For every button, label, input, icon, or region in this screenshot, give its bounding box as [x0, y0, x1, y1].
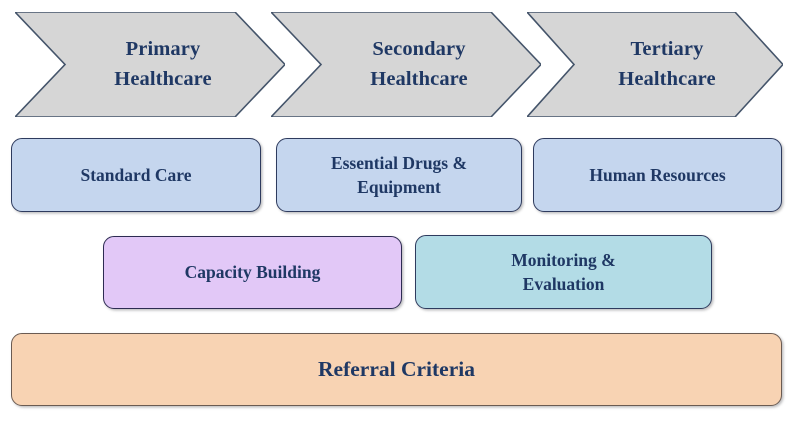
component-box-essential-drugs-equipment[interactable]: Essential Drugs & Equipment — [276, 138, 522, 212]
chevron-tertiary-healthcare[interactable]: Tertiary Healthcare — [527, 12, 783, 117]
chevron-secondary-healthcare[interactable]: Secondary Healthcare — [271, 12, 541, 117]
component-box-standard-care[interactable]: Standard Care — [11, 138, 261, 212]
support-box-monitoring-evaluation[interactable]: Monitoring & Evaluation — [415, 235, 712, 309]
component-box-human-resources[interactable]: Human Resources — [533, 138, 782, 212]
support-box-capacity-building[interactable]: Capacity Building — [103, 236, 402, 309]
chevron-label-primary: Primary Healthcare — [114, 35, 211, 93]
chevron-primary-healthcare[interactable]: Primary Healthcare — [15, 12, 285, 117]
footer-bar-referral-criteria[interactable]: Referral Criteria — [11, 333, 782, 406]
chevron-label-secondary: Secondary Healthcare — [370, 35, 467, 93]
diagram-canvas: Primary Healthcare Secondary Healthcare … — [0, 0, 799, 427]
chevron-label-tertiary: Tertiary Healthcare — [618, 35, 715, 93]
